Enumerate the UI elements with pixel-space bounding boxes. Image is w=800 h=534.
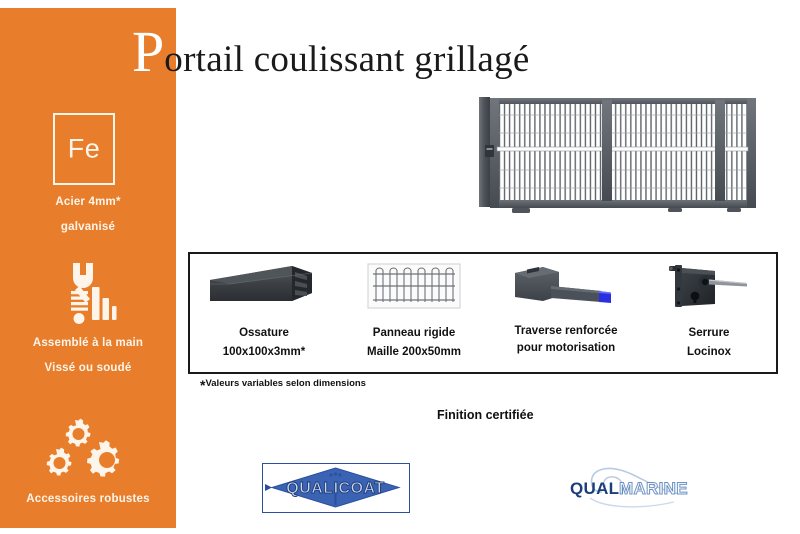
lock-icon (642, 260, 776, 314)
footnote: *Valeurs variables selon dimensions (200, 378, 366, 392)
component-serrure: Serrure Locinox (642, 254, 776, 372)
footnote-text: Valeurs variables selon dimensions (205, 378, 366, 389)
components-panel: Ossature 100x100x3mm* (188, 252, 778, 374)
component-sublabel-ossature: 100x100x3mm* (190, 346, 338, 358)
component-sublabel-traverse: pour motorisation (490, 342, 642, 354)
component-ossature: Ossature 100x100x3mm* (190, 254, 338, 372)
component-label-panneau: Panneau rigide (338, 327, 490, 339)
wrench-assembly-icon (0, 261, 176, 332)
sidebar-caption-accessories: Accessoires robustes (0, 493, 176, 505)
component-label-traverse: Traverse renforcée (490, 325, 642, 337)
qualicoat-logo: QUALICOAT (262, 463, 410, 513)
component-panneau-rigide: Panneau rigide Maille 200x50mm (338, 254, 490, 372)
page-title: Portail coulissant grillagé (132, 23, 530, 83)
qualimarine-logo: QUALI MARINE (562, 462, 712, 512)
svg-text:MARINE: MARINE (619, 479, 688, 498)
sidebar-caption-assembly-line1: Assemblé à la main (0, 337, 176, 349)
sidebar-caption-steel-line1: Acier 4mm* (0, 196, 176, 208)
fe-element-box-icon: Fe (53, 113, 115, 185)
fe-badge-label: Fe (55, 136, 113, 163)
component-traverse: Traverse renforcée pour motorisation (490, 254, 642, 372)
reinforced-crossbar-icon (490, 260, 642, 314)
component-label-serrure: Serrure (642, 327, 776, 339)
certification-heading: Finition certifiée (437, 408, 534, 422)
page-title-initial: P (132, 19, 164, 84)
component-sublabel-panneau: Maille 200x50mm (338, 346, 490, 358)
steel-frame-profile-icon (190, 260, 338, 314)
component-label-ossature: Ossature (190, 327, 338, 339)
sliding-gate-photo (472, 88, 775, 218)
sidebar-caption-assembly-line2: Vissé ou soudé (0, 362, 176, 374)
sidebar-caption-steel-line2: galvanisé (0, 221, 176, 233)
page-title-rest: ortail coulissant grillagé (164, 39, 529, 80)
rigid-mesh-panel-icon (338, 260, 490, 314)
component-sublabel-serrure: Locinox (642, 346, 776, 358)
svg-text:QUALI: QUALI (570, 479, 624, 498)
sidebar: Fe Acier 4mm* galvanisé (0, 8, 176, 528)
product-sheet-page: Fe Acier 4mm* galvanisé (0, 0, 800, 534)
gears-icon (0, 418, 176, 487)
